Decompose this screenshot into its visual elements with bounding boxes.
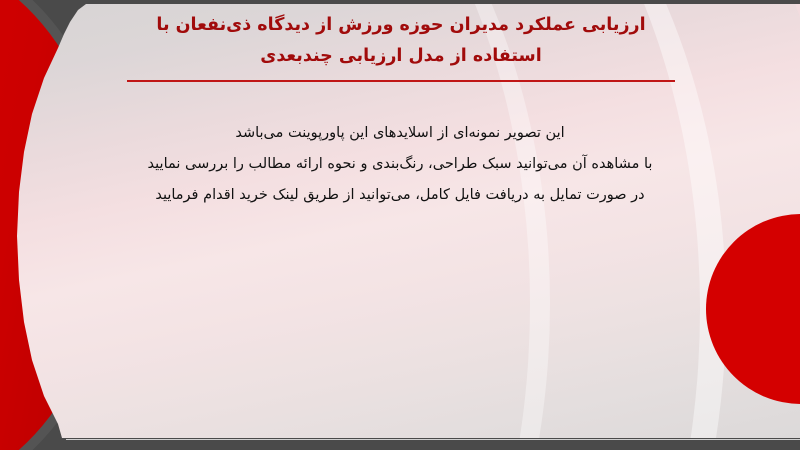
title-underline-rule	[127, 80, 675, 82]
slide-title-line-2: استفاده از مدل ارزیابی چندبعدی	[120, 41, 682, 72]
slide-body-line-2: با مشاهده آن می‌توانید سبک طراحی، رنگ‌بن…	[120, 149, 680, 180]
panel-bottom-highlight	[66, 439, 800, 440]
slide-title: ارزیابی عملکرد مدیران حوزه ورزش از دیدگا…	[120, 10, 682, 82]
slide-body-text: این تصویر نمونه‌ای از اسلایدهای این پاور…	[120, 118, 680, 211]
slide-body-line-3: در صورت تمایل به دریافت فایل کامل، می‌تو…	[120, 180, 680, 211]
slide-title-line-1: ارزیابی عملکرد مدیران حوزه ورزش از دیدگا…	[120, 10, 682, 41]
presentation-slide: ارزیابی عملکرد مدیران حوزه ورزش از دیدگا…	[0, 0, 800, 450]
slide-body-line-1: این تصویر نمونه‌ای از اسلایدهای این پاور…	[120, 118, 680, 149]
